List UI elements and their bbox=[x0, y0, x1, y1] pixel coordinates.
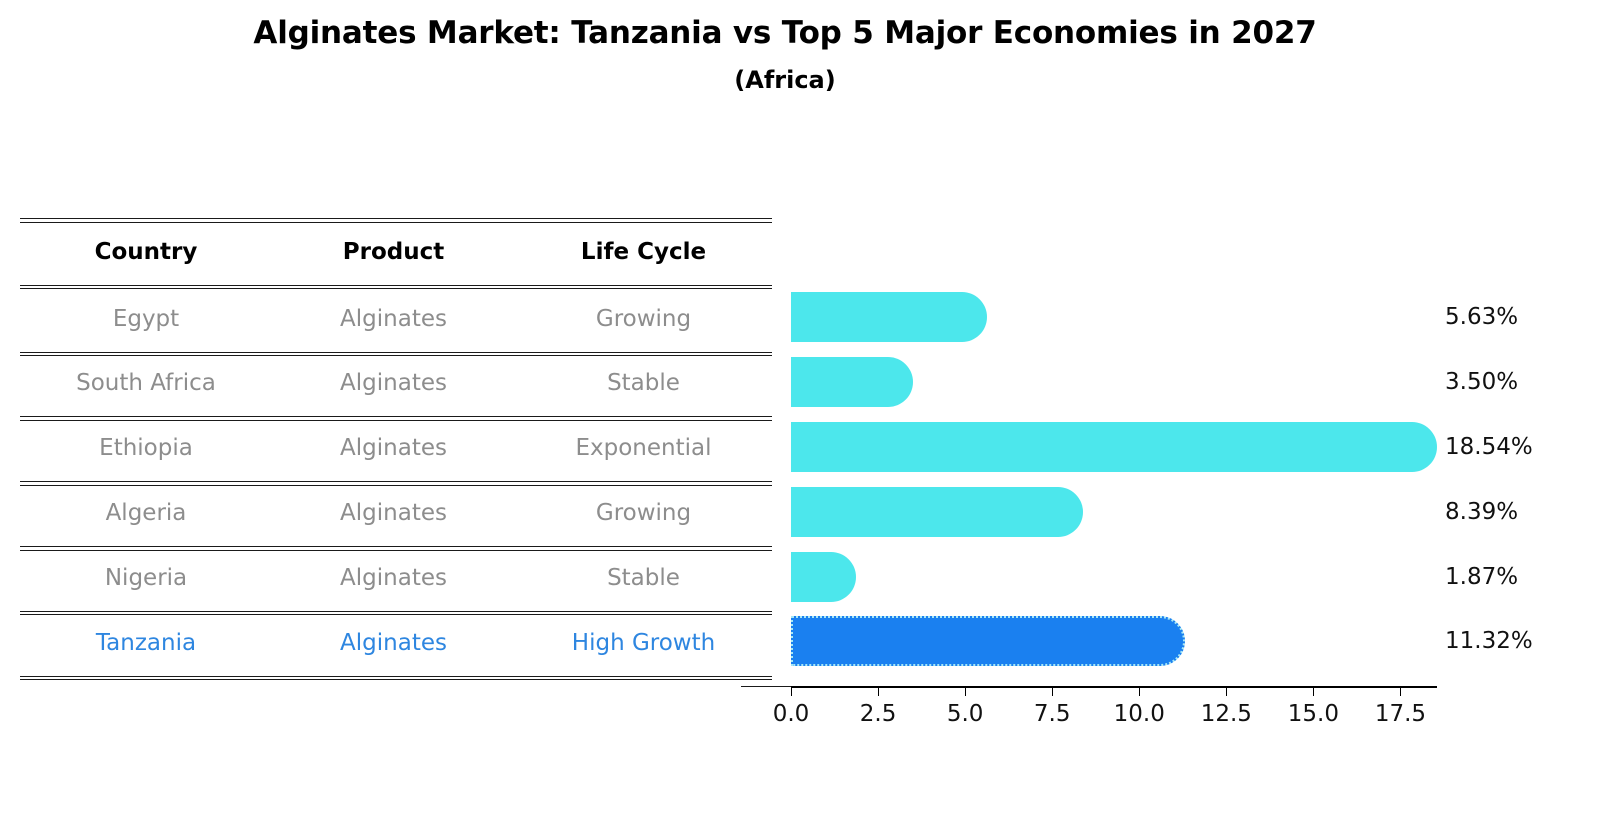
cell-product: Alginates bbox=[272, 372, 515, 395]
bar-row: 8.39% bbox=[791, 479, 1437, 544]
table-row: EthiopiaAlginatesExponential bbox=[20, 416, 772, 481]
x-axis-tick bbox=[965, 688, 966, 696]
bar-row: 18.54% bbox=[791, 415, 1437, 480]
cell-country: Algeria bbox=[20, 502, 272, 525]
column-header-product: Product bbox=[272, 241, 515, 264]
cell-product: Alginates bbox=[272, 308, 515, 331]
bar-algeria bbox=[791, 487, 1083, 537]
cell-life-cycle: High Growth bbox=[515, 632, 772, 655]
x-axis-tick-label: 2.5 bbox=[860, 701, 897, 727]
bar-south-africa bbox=[791, 357, 913, 407]
table-rule-header-bottom bbox=[20, 285, 772, 286]
data-table: CountryProductLife CycleEgyptAlginatesGr… bbox=[20, 218, 772, 686]
table-row: TanzaniaAlginatesHigh Growth bbox=[20, 611, 772, 676]
table-row: NigeriaAlginatesStable bbox=[20, 546, 772, 611]
cell-life-cycle: Growing bbox=[515, 308, 772, 331]
bar-row: 1.87% bbox=[791, 544, 1437, 609]
x-axis-tick bbox=[1139, 688, 1140, 696]
x-axis-tick bbox=[1313, 688, 1314, 696]
cell-life-cycle: Growing bbox=[515, 502, 772, 525]
bar-value-label: 1.87% bbox=[1445, 564, 1518, 590]
column-header-country: Country bbox=[20, 241, 272, 264]
table-row: EgyptAlginatesGrowing bbox=[20, 287, 772, 352]
bar-value-label: 11.32% bbox=[1445, 628, 1533, 654]
bar-value-label: 3.50% bbox=[1445, 369, 1518, 395]
bar-value-label: 5.63% bbox=[1445, 304, 1518, 330]
cell-product: Alginates bbox=[272, 502, 515, 525]
x-axis-tick-label: 5.0 bbox=[947, 701, 984, 727]
bar-row: 3.50% bbox=[791, 350, 1437, 415]
x-axis-tick-label: 12.5 bbox=[1201, 701, 1252, 727]
chart-figure: Alginates Market: Tanzania vs Top 5 Majo… bbox=[0, 0, 1604, 823]
bar-egypt bbox=[791, 292, 987, 342]
cell-country: Nigeria bbox=[20, 567, 272, 590]
x-axis-tick bbox=[1052, 688, 1053, 696]
cell-life-cycle: Stable bbox=[515, 567, 772, 590]
cell-product: Alginates bbox=[272, 437, 515, 460]
cell-product: Alginates bbox=[272, 567, 515, 590]
bar-value-label: 8.39% bbox=[1445, 499, 1518, 525]
x-axis: 0.02.55.07.510.012.515.017.5 bbox=[791, 686, 1437, 688]
cell-life-cycle: Stable bbox=[515, 372, 772, 395]
axis-left-stub bbox=[741, 686, 791, 687]
chart-subtitle: (Africa) bbox=[0, 65, 1570, 95]
x-axis-tick-label: 10.0 bbox=[1114, 701, 1165, 727]
cell-product: Alginates bbox=[272, 632, 515, 655]
bar-value-label: 18.54% bbox=[1445, 434, 1533, 460]
page-title: Alginates Market: Tanzania vs Top 5 Majo… bbox=[0, 14, 1570, 53]
x-axis-tick bbox=[791, 688, 792, 696]
x-axis-tick-label: 7.5 bbox=[1034, 701, 1071, 727]
column-header-life-cycle: Life Cycle bbox=[515, 241, 772, 264]
x-axis-tick-label: 0.0 bbox=[773, 701, 810, 727]
cell-country: Egypt bbox=[20, 308, 272, 331]
table-rule-row-5 bbox=[20, 676, 772, 677]
x-axis-tick-label: 17.5 bbox=[1375, 701, 1426, 727]
bar-tanzania bbox=[791, 616, 1185, 666]
cell-country: South Africa bbox=[20, 372, 272, 395]
cell-country: Tanzania bbox=[20, 632, 272, 655]
bar-ethiopia bbox=[791, 422, 1437, 472]
bar-row: 5.63% bbox=[791, 285, 1437, 350]
x-axis-tick bbox=[1400, 688, 1401, 696]
bar-plot-area: 5.63%3.50%18.54%8.39%1.87%11.32% bbox=[791, 281, 1437, 686]
bar-nigeria bbox=[791, 552, 856, 602]
table-rule-top bbox=[20, 218, 772, 219]
title-block: Alginates Market: Tanzania vs Top 5 Majo… bbox=[0, 14, 1570, 95]
table-row: South AfricaAlginatesStable bbox=[20, 352, 772, 417]
x-axis-tick bbox=[1226, 688, 1227, 696]
x-axis-tick bbox=[878, 688, 879, 696]
bar-row: 11.32% bbox=[791, 609, 1437, 674]
cell-country: Ethiopia bbox=[20, 437, 272, 460]
cell-life-cycle: Exponential bbox=[515, 437, 772, 460]
x-axis-tick-label: 15.0 bbox=[1288, 701, 1339, 727]
table-header-row: CountryProductLife Cycle bbox=[20, 220, 772, 285]
table-row: AlgeriaAlginatesGrowing bbox=[20, 481, 772, 546]
